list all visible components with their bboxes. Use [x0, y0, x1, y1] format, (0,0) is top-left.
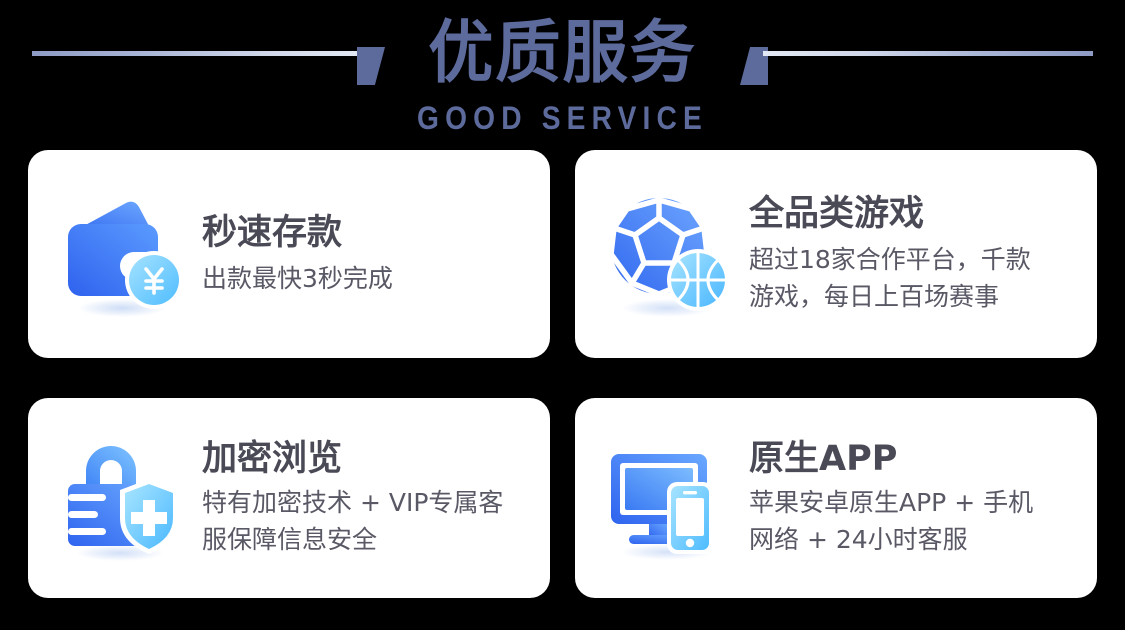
card-description: 出款最快3秒完成 [202, 260, 532, 297]
feature-card-grid: 秒速存款 出款最快3秒完成 [28, 150, 1097, 598]
decorative-rule-right [763, 51, 1093, 56]
card-text-block: 原生APP 苹果安卓原生APP + 手机网络 + 24小时客服 [749, 438, 1079, 558]
card-text-block: 全品类游戏 超过18家合作平台，千款游戏，每日上百场赛事 [749, 193, 1079, 315]
section-header: 优质服务 GOOD SERVICE [0, 0, 1125, 150]
feature-card-games[interactable]: 全品类游戏 超过18家合作平台，千款游戏，每日上百场赛事 [575, 150, 1097, 358]
feature-card-deposit[interactable]: 秒速存款 出款最快3秒完成 [28, 150, 550, 358]
lock-shield-icon [54, 432, 186, 564]
card-description: 苹果安卓原生APP + 手机网络 + 24小时客服 [749, 484, 1079, 558]
monitor-phone-icon [601, 432, 733, 564]
card-title: 加密浏览 [202, 438, 532, 480]
soccer-basketball-icon [601, 188, 733, 320]
card-title: 原生APP [749, 438, 1079, 480]
good-service-panel: 优质服务 GOOD SERVICE [0, 0, 1125, 630]
card-description: 超过18家合作平台，千款游戏，每日上百场赛事 [749, 241, 1079, 315]
card-text-block: 秒速存款 出款最快3秒完成 [202, 212, 532, 297]
card-title: 秒速存款 [202, 212, 532, 254]
card-text-block: 加密浏览 特有加密技术 + VIP专属客服保障信息安全 [202, 438, 532, 558]
card-title: 全品类游戏 [749, 193, 1079, 235]
wallet-yen-icon [54, 188, 186, 320]
feature-card-encryption[interactable]: 加密浏览 特有加密技术 + VIP专属客服保障信息安全 [28, 398, 550, 598]
feature-card-native-app[interactable]: 原生APP 苹果安卓原生APP + 手机网络 + 24小时客服 [575, 398, 1097, 598]
page-subtitle: GOOD SERVICE [68, 100, 1058, 137]
card-description: 特有加密技术 + VIP专属客服保障信息安全 [202, 484, 532, 558]
